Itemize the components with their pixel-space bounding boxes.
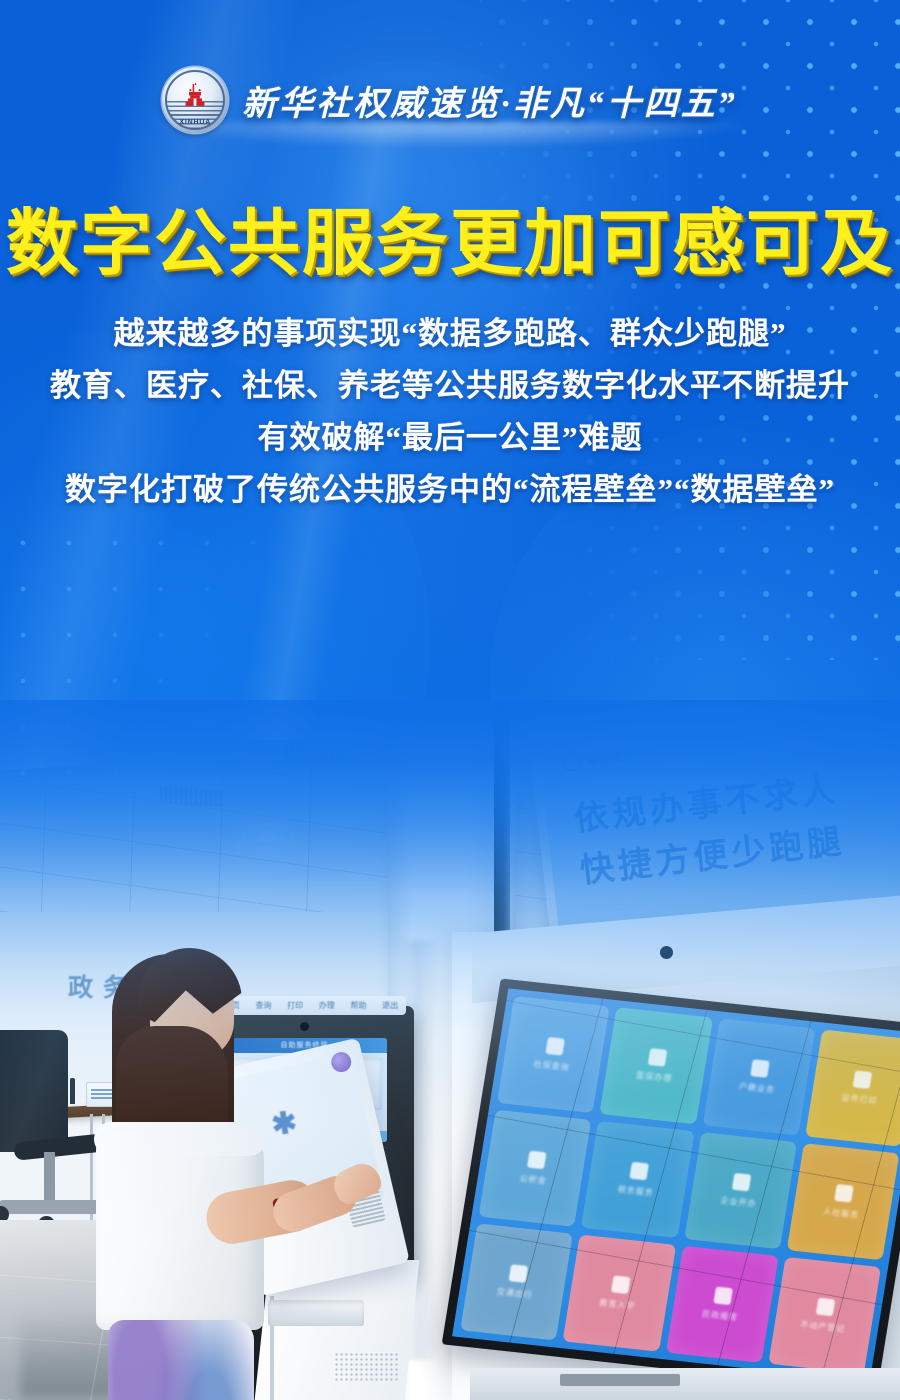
kiosk-tile-grid[interactable]: 社保查询医保办理户籍业务证件打印公积金税务服务企业开办人社服务交通出行教育入学民… bbox=[452, 988, 900, 1381]
wall-display-logo-text: 政务服务 bbox=[587, 747, 636, 767]
kiosk-tile-label: 医保办理 bbox=[635, 1070, 673, 1085]
kiosk-tile[interactable]: 人社服务 bbox=[786, 1143, 899, 1260]
kiosk-tile[interactable]: 教育入学 bbox=[563, 1235, 676, 1352]
person-using-kiosk bbox=[86, 948, 316, 1400]
body-line-1: 越来越多的事项实现“数据多跑路、群众少跑腿” bbox=[0, 308, 900, 360]
kiosk-tile-label: 企业开办 bbox=[720, 1195, 758, 1210]
book-icon bbox=[611, 1275, 631, 1294]
poster-root: XINHUA 新华社权威速览·非凡“十四五” 数字公共服务更加可感可及 越来越多… bbox=[0, 0, 900, 1400]
kiosk-right-slot bbox=[560, 1374, 680, 1386]
heart-icon bbox=[713, 1287, 733, 1306]
wall-display-logo: 政务服务 bbox=[561, 744, 637, 772]
cross-icon bbox=[648, 1048, 668, 1067]
card-icon bbox=[545, 1037, 565, 1056]
photo-scene: 政务公开 bbox=[0, 700, 900, 1400]
kiosk-tile[interactable]: 社保查询 bbox=[497, 996, 610, 1113]
kiosk-tile-label: 证件打印 bbox=[841, 1092, 879, 1107]
xinhua-logo-icon: XINHUA bbox=[162, 67, 228, 133]
kiosk-tile[interactable]: 医保办理 bbox=[600, 1007, 713, 1124]
kiosk-tile-label: 人社服务 bbox=[822, 1206, 860, 1221]
home-icon bbox=[750, 1059, 770, 1078]
kiosk-tile[interactable]: 税务服务 bbox=[581, 1121, 694, 1238]
shoulder bbox=[94, 1122, 266, 1156]
building-icon bbox=[732, 1173, 752, 1192]
terminal-toolbar-item[interactable]: 帮助 bbox=[350, 1000, 366, 1011]
kiosk-tile-label: 不动产登记 bbox=[799, 1319, 845, 1335]
kiosk-touchscreen[interactable]: 社保查询医保办理户籍业务证件打印公积金税务服务企业开办人社服务交通出行教育入学民… bbox=[442, 978, 900, 1391]
kiosk-tile[interactable]: 交通出行 bbox=[460, 1223, 573, 1340]
logo-wordmark: XINHUA bbox=[162, 119, 228, 126]
terminal-toolbar-item[interactable]: 退出 bbox=[382, 1000, 398, 1011]
kiosk-tile[interactable]: 民政婚育 bbox=[665, 1246, 778, 1363]
kiosk-tile[interactable]: 不动产登记 bbox=[768, 1257, 881, 1374]
coin-icon bbox=[527, 1151, 547, 1170]
wall-display-slogan: 依规办事不求人 快捷方便少跑腿 bbox=[572, 764, 848, 897]
body-line-2: 教育、医疗、社保、养老等公共服务数字化水平不断提升 bbox=[0, 360, 900, 412]
kiosk-tile[interactable]: 公积金 bbox=[479, 1110, 592, 1227]
kiosk-white-vent bbox=[334, 1352, 398, 1382]
body-line-4: 数字化打破了传统公共服务中的“流程壁垒”“数据壁垒” bbox=[0, 464, 900, 516]
key-icon bbox=[816, 1298, 836, 1317]
kiosk-tile[interactable]: 户籍业务 bbox=[702, 1018, 815, 1135]
terminal-toolbar-item[interactable]: 办理 bbox=[319, 1000, 335, 1011]
photo-fade-mask: 政务公开 bbox=[0, 700, 900, 1400]
photo-service-hall: 政务公开 bbox=[0, 700, 900, 1400]
user-icon bbox=[835, 1184, 855, 1203]
kiosk-right-base bbox=[470, 1368, 900, 1400]
printer-icon bbox=[853, 1070, 873, 1089]
patterned-pants bbox=[108, 1320, 254, 1400]
office-chair-back bbox=[0, 1030, 68, 1152]
kiosk-tile-label: 教育入学 bbox=[599, 1297, 637, 1312]
wall-display-logo-icon bbox=[561, 751, 583, 773]
car-icon bbox=[508, 1264, 528, 1283]
kiosk-tile-label: 公积金 bbox=[519, 1173, 548, 1187]
header-banner: XINHUA 新华社权威速览·非凡“十四五” bbox=[0, 58, 900, 142]
logo-tower-icon bbox=[178, 80, 212, 114]
kiosk-tile-label: 税务服务 bbox=[617, 1183, 655, 1198]
kiosk-tile-label: 户籍业务 bbox=[738, 1081, 776, 1096]
body-copy: 越来越多的事项实现“数据多跑路、群众少跑腿” 教育、医疗、社保、养老等公共服务数… bbox=[0, 308, 900, 516]
kiosk-tile[interactable]: 证件打印 bbox=[805, 1029, 900, 1146]
kiosk-tile-label: 社保查询 bbox=[533, 1059, 571, 1074]
ceiling-light bbox=[112, 764, 156, 784]
kiosk-tile-label: 民政婚育 bbox=[701, 1308, 739, 1323]
ceiling-light bbox=[246, 826, 290, 846]
banner-title: 新华社权威速览·非凡“十四五” bbox=[242, 76, 738, 125]
body-line-3: 有效破解“最后一公里”难题 bbox=[0, 412, 900, 464]
page-title: 数字公共服务更加可感可及 bbox=[0, 184, 900, 289]
doc-icon bbox=[629, 1162, 649, 1181]
desk-pen bbox=[70, 1078, 75, 1104]
kiosk-right-camera-icon bbox=[660, 946, 673, 959]
kiosk-tile-label: 交通出行 bbox=[496, 1286, 534, 1301]
kiosk-tile[interactable]: 企业开办 bbox=[684, 1132, 797, 1249]
